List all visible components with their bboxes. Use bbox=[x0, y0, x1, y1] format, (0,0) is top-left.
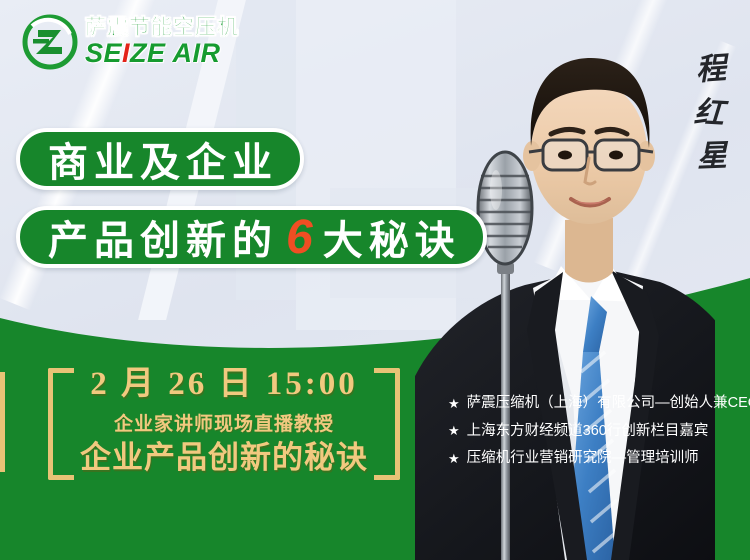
speaker-name-calligraphy: 程 红 星 bbox=[688, 48, 734, 179]
bracket-left-decoration bbox=[48, 368, 74, 480]
logo-chinese-name: 萨震节能空压机 bbox=[85, 17, 239, 38]
credential-text: 压缩机行业营销研究院—管理培训师 bbox=[467, 451, 699, 466]
logo-en-part1: SE bbox=[85, 38, 122, 68]
credential-text: 萨震压缩机（上海）有限公司—创始人兼CEO bbox=[467, 396, 750, 411]
headline-number-six: 6 bbox=[278, 210, 317, 265]
star-icon: ★ bbox=[448, 397, 460, 410]
brand-logo[interactable]: 萨震节能空压机 SEIZE AIR bbox=[22, 14, 239, 70]
list-item: ★ 上海东方财经频道360行创新栏目嘉宾 bbox=[448, 424, 750, 439]
star-icon: ★ bbox=[448, 424, 460, 437]
headline-line-2-before: 产品创新的 bbox=[42, 208, 278, 266]
bracket-right-decoration bbox=[374, 368, 400, 480]
event-datetime: 2 月 26 日 15:00 bbox=[74, 366, 374, 404]
headline-line-2: 产品创新的6大秘诀 bbox=[16, 206, 487, 268]
event-topic: 企业产品创新的秘诀 bbox=[74, 440, 374, 477]
list-item: ★ 压缩机行业营销研究院—管理培训师 bbox=[448, 451, 750, 466]
logo-english-name: SEIZE AIR bbox=[85, 40, 239, 67]
list-item: ★ 萨震压缩机（上海）有限公司—创始人兼CEO bbox=[448, 396, 750, 411]
speaker-name-char-2: 红 bbox=[693, 91, 725, 136]
speaker-credentials-list: ★ 萨震压缩机（上海）有限公司—创始人兼CEO ★ 上海东方财经频道360行创新… bbox=[448, 396, 750, 479]
promo-banner: 萨震节能空压机 SEIZE AIR 商业及企业 产品创新的6大秘诀 程 红 星 … bbox=[0, 0, 750, 560]
event-text-lines: 2 月 26 日 15:00 企业家讲师现场直播教授 企业产品创新的秘诀 bbox=[74, 366, 374, 477]
seize-air-logo-icon bbox=[22, 14, 78, 70]
credential-text: 上海东方财经频道360行创新栏目嘉宾 bbox=[467, 424, 709, 439]
speaker-name-char-3: 星 bbox=[696, 134, 727, 179]
event-subtitle: 企业家讲师现场直播教授 bbox=[74, 409, 374, 436]
headline-line-1: 商业及企业 bbox=[16, 128, 304, 190]
event-info-block: 2 月 26 日 15:00 企业家讲师现场直播教授 企业产品创新的秘诀 bbox=[48, 358, 400, 490]
logo-en-red-letter: I bbox=[122, 38, 130, 68]
headline-line-2-after: 大秘诀 bbox=[317, 208, 461, 266]
headline-line-1-text: 商业及企业 bbox=[42, 130, 278, 188]
star-icon: ★ bbox=[448, 452, 460, 465]
gold-accent-bar bbox=[0, 372, 5, 472]
speaker-name-char-1: 程 bbox=[695, 47, 728, 92]
logo-en-part2: ZE AIR bbox=[130, 38, 221, 68]
